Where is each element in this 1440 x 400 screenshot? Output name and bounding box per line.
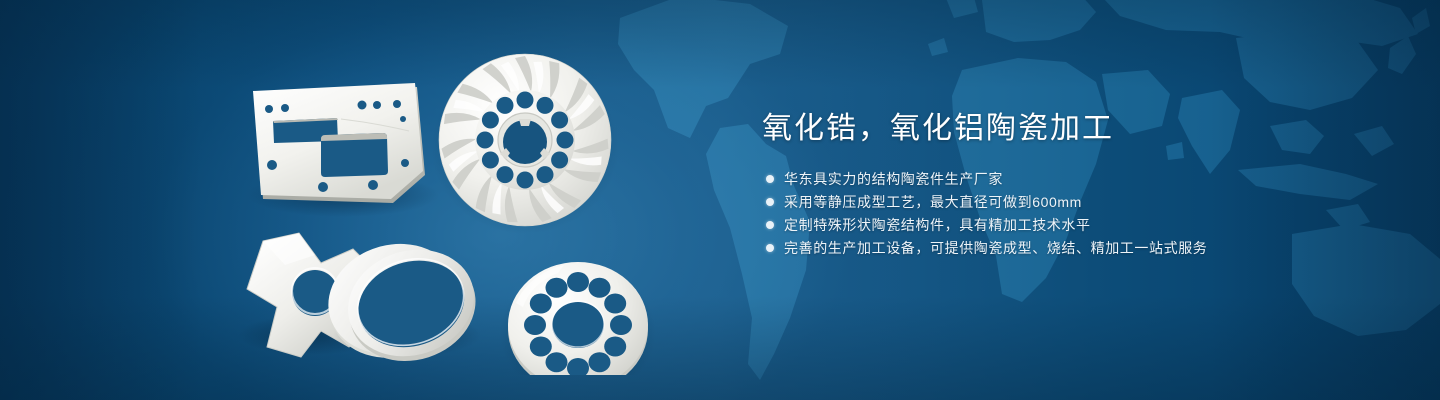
ceramic-plate-part [247,83,439,217]
page-title: 氧化锆，氧化铝陶瓷加工 [762,108,1402,150]
ceramic-impeller-part [431,54,619,234]
bullet-dot-icon [766,244,774,252]
feature-bullet-list: 华东具实力的结构陶瓷件生产厂家 采用等静压成型工艺，最大直径可做到600mm 定… [762,172,1402,256]
bullet-dot-icon [766,221,774,229]
feature-bullet-text: 定制特殊形状陶瓷结构件，具有精加工技术水平 [784,217,1091,233]
feature-bullet-item: 采用等静压成型工艺，最大直径可做到600mm [762,195,1402,210]
bullet-dot-icon [766,198,774,206]
ceramic-ring-part [315,229,489,375]
ceramic-processing-banner: 氧化锆，氧化铝陶瓷加工 华东具实力的结构陶瓷件生产厂家 采用等静压成型工艺，最大… [0,0,1440,400]
feature-bullet-text: 华东具实力的结构陶瓷件生产厂家 [784,171,1003,187]
feature-bullet-item: 定制特殊形状陶瓷结构件，具有精加工技术水平 [762,218,1402,233]
banner-copy: 氧化锆，氧化铝陶瓷加工 华东具实力的结构陶瓷件生产厂家 采用等静压成型工艺，最大… [762,108,1402,256]
ceramic-products-group [225,35,695,375]
bullet-dot-icon [766,175,774,183]
feature-bullet-text: 采用等静压成型工艺，最大直径可做到600mm [784,194,1082,210]
feature-bullet-item: 完善的生产加工设备，可提供陶瓷成型、烧结、精加工一站式服务 [762,241,1402,256]
feature-bullet-item: 华东具实力的结构陶瓷件生产厂家 [762,172,1402,187]
feature-bullet-text: 完善的生产加工设备，可提供陶瓷成型、烧结、精加工一站式服务 [784,240,1207,256]
ceramic-holed-disc-part [500,262,656,375]
